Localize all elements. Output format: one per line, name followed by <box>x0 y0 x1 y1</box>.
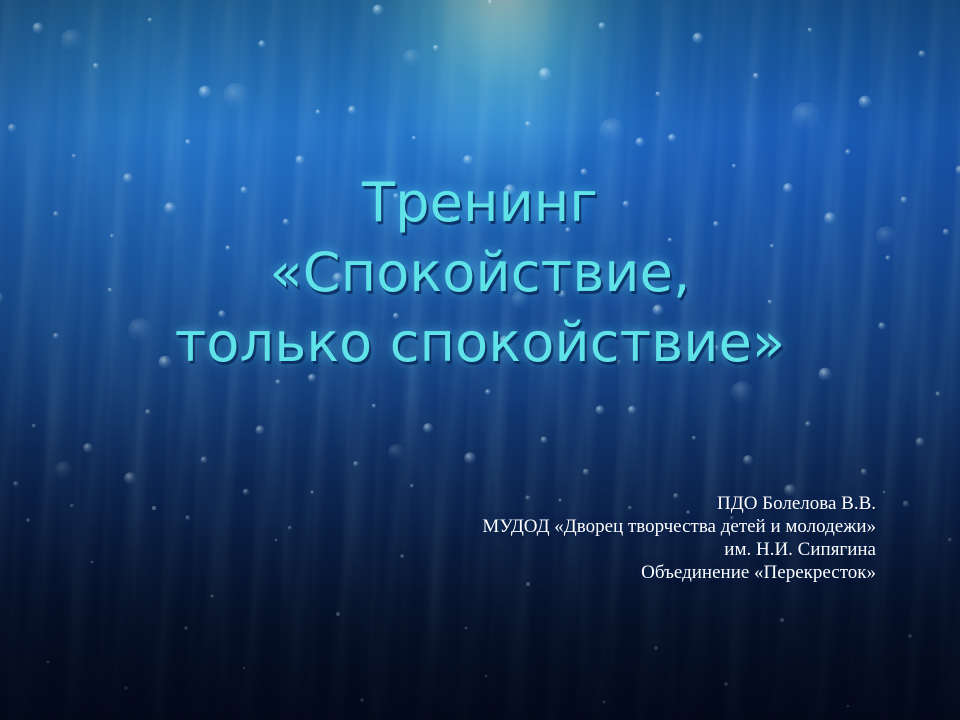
slide-title-line-1: Тренинг <box>0 176 960 230</box>
credit-named-after: им. Н.И. Сипягина <box>482 538 876 561</box>
slide-title-line-3: только спокойствие» <box>0 316 960 370</box>
credit-group: Объединение «Перекресток» <box>482 561 876 584</box>
presentation-slide: Тренинг «Спокойствие, только спокойствие… <box>0 0 960 720</box>
slide-credits: ПДО Болелова В.В. МУДОД «Дворец творчест… <box>482 492 876 584</box>
credit-author: ПДО Болелова В.В. <box>482 492 876 515</box>
slide-title-line-2: «Спокойствие, <box>0 246 960 300</box>
credit-organization: МУДОД «Дворец творчества детей и молодеж… <box>482 515 876 538</box>
slide-title: Тренинг «Спокойствие, только спокойствие… <box>0 176 960 370</box>
